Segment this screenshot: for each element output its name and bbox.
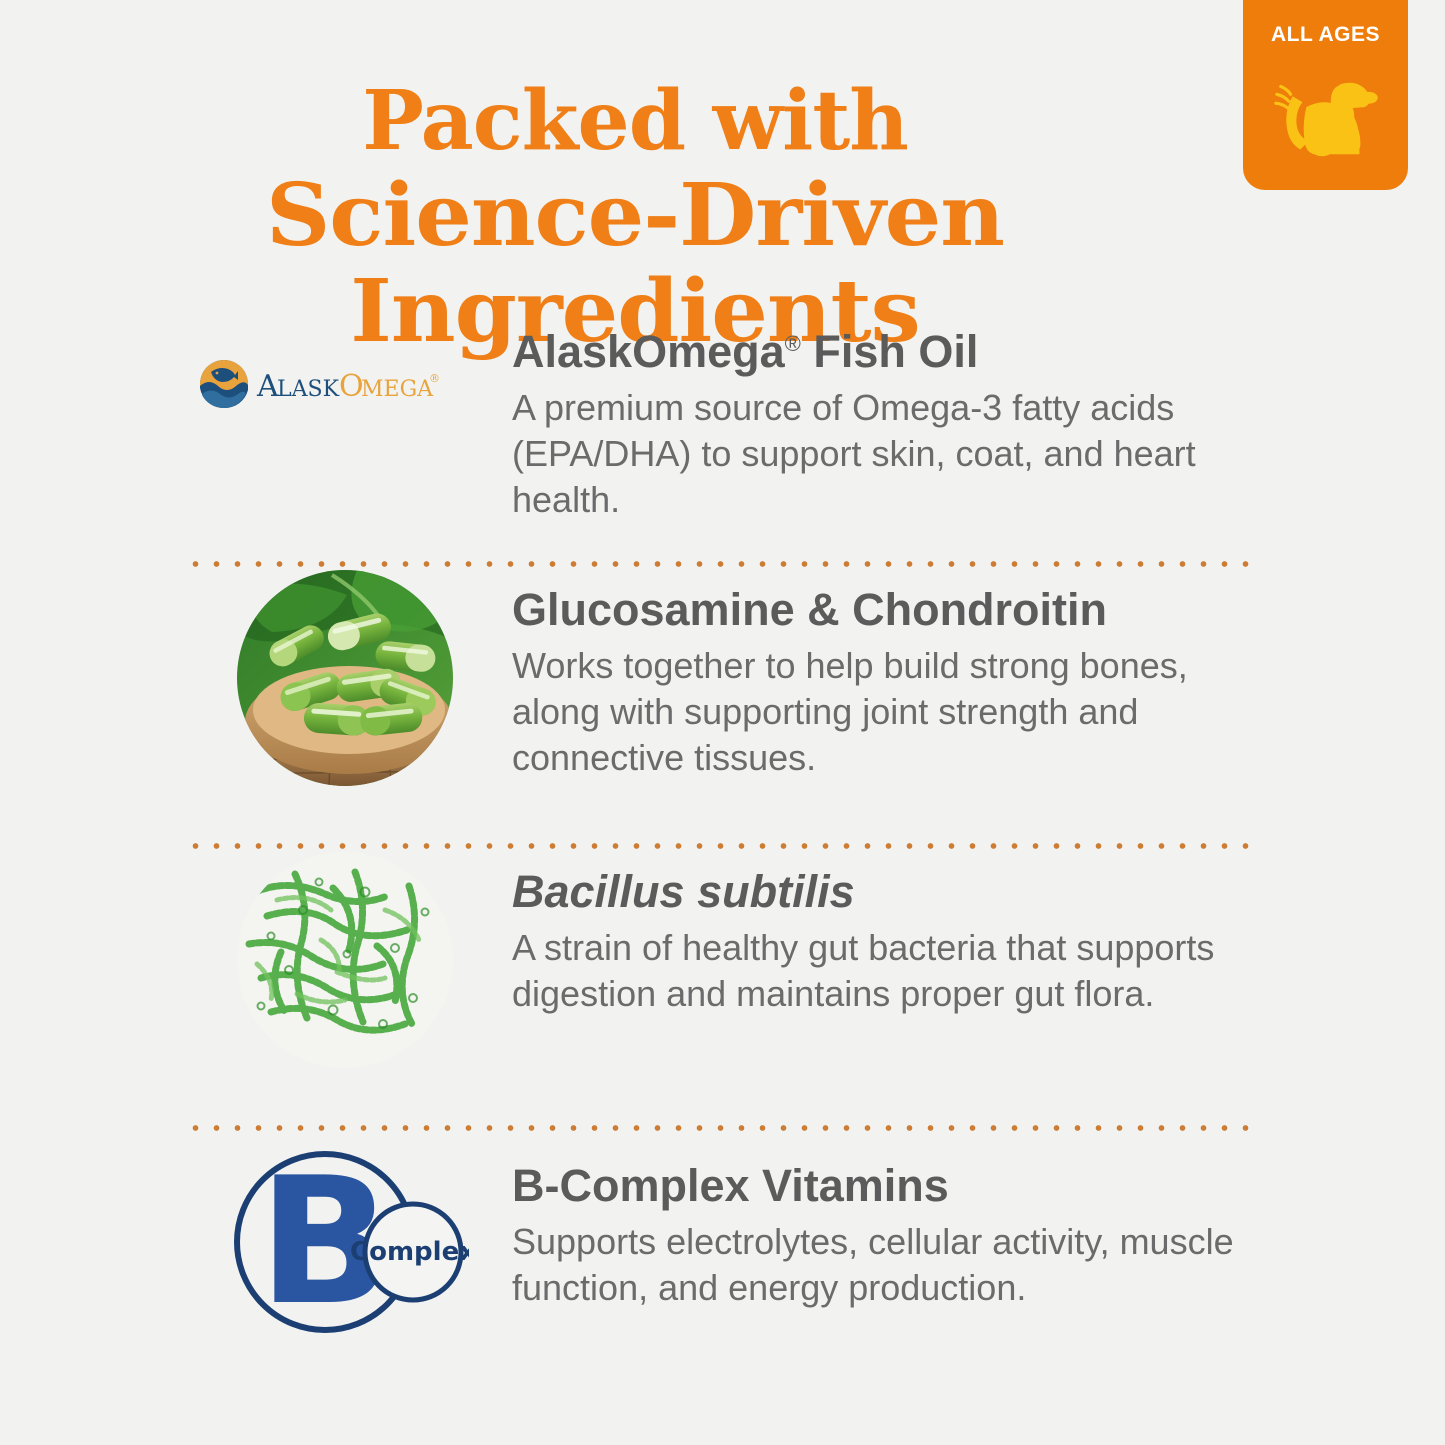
ingredient-description: A strain of healthy gut bacteria that su… bbox=[512, 925, 1265, 1016]
bcomplex-sub-label: Complex bbox=[350, 1237, 469, 1267]
registered-mark: ® bbox=[785, 331, 801, 356]
ingredient-description: Supports electrolytes, cellular activity… bbox=[512, 1219, 1265, 1310]
bacteria-microscopy-photo bbox=[237, 852, 453, 1068]
page-title: Packed with Science-Driven Ingredients bbox=[0, 76, 1270, 360]
ingredient-icon-cell bbox=[178, 570, 512, 786]
sitting-dog-icon bbox=[1267, 53, 1385, 171]
ingredient-list: A LASK O MEGA ® AlaskOmega® Fish Oil A p… bbox=[0, 326, 1445, 1384]
row-divider bbox=[185, 840, 1260, 852]
row-divider bbox=[185, 558, 1260, 570]
svg-text:®: ® bbox=[429, 372, 440, 385]
ingredient-title-rest: Fish Oil bbox=[801, 326, 979, 377]
row-divider bbox=[185, 1122, 1260, 1134]
ingredient-text-cell: AlaskOmega® Fish Oil A premium source of… bbox=[512, 326, 1445, 522]
svg-text:O: O bbox=[339, 369, 364, 404]
svg-text:MEGA: MEGA bbox=[361, 377, 434, 402]
ingredient-text-cell: Glucosamine & Chondroitin Works together… bbox=[512, 570, 1445, 780]
svg-text:A: A bbox=[256, 369, 279, 404]
ingredient-icon-cell: B Complex bbox=[178, 1134, 512, 1342]
ingredient-text-cell: B-Complex Vitamins Supports electrolytes… bbox=[512, 1134, 1445, 1311]
ingredient-title: AlaskOmega® Fish Oil bbox=[512, 328, 1265, 375]
ingredient-title: Bacillus subtilis bbox=[512, 868, 1265, 915]
ingredient-text-cell: Bacillus subtilis A strain of healthy gu… bbox=[512, 852, 1445, 1017]
alaskomega-logo: A LASK O MEGA ® bbox=[197, 354, 493, 414]
ingredient-row-bcomplex: B Complex B-Complex Vitamins Supports el… bbox=[0, 1134, 1445, 1384]
green-capsules-photo bbox=[237, 570, 453, 786]
page-title-line-1: Packed with bbox=[0, 76, 1270, 168]
b-complex-logo: B Complex bbox=[221, 1142, 469, 1342]
ingredient-row-alaskomega: A LASK O MEGA ® AlaskOmega® Fish Oil A p… bbox=[0, 326, 1445, 558]
ingredient-description: Works together to help build strong bone… bbox=[512, 643, 1265, 780]
ingredient-title-main: AlaskOmega bbox=[512, 326, 785, 377]
ingredient-description: A premium source of Omega-3 fatty acids … bbox=[512, 385, 1265, 522]
ingredient-icon-cell: A LASK O MEGA ® bbox=[178, 326, 512, 414]
ingredient-icon-cell bbox=[178, 852, 512, 1068]
ingredient-title: Glucosamine & Chondroitin bbox=[512, 586, 1265, 633]
ingredient-title: B-Complex Vitamins bbox=[512, 1162, 1265, 1209]
svg-text:LASK: LASK bbox=[277, 377, 340, 402]
ingredient-row-bacillus: Bacillus subtilis A strain of healthy gu… bbox=[0, 852, 1445, 1122]
ingredient-row-glucosamine: Glucosamine & Chondroitin Works together… bbox=[0, 570, 1445, 840]
all-ages-label: ALL AGES bbox=[1271, 24, 1380, 45]
